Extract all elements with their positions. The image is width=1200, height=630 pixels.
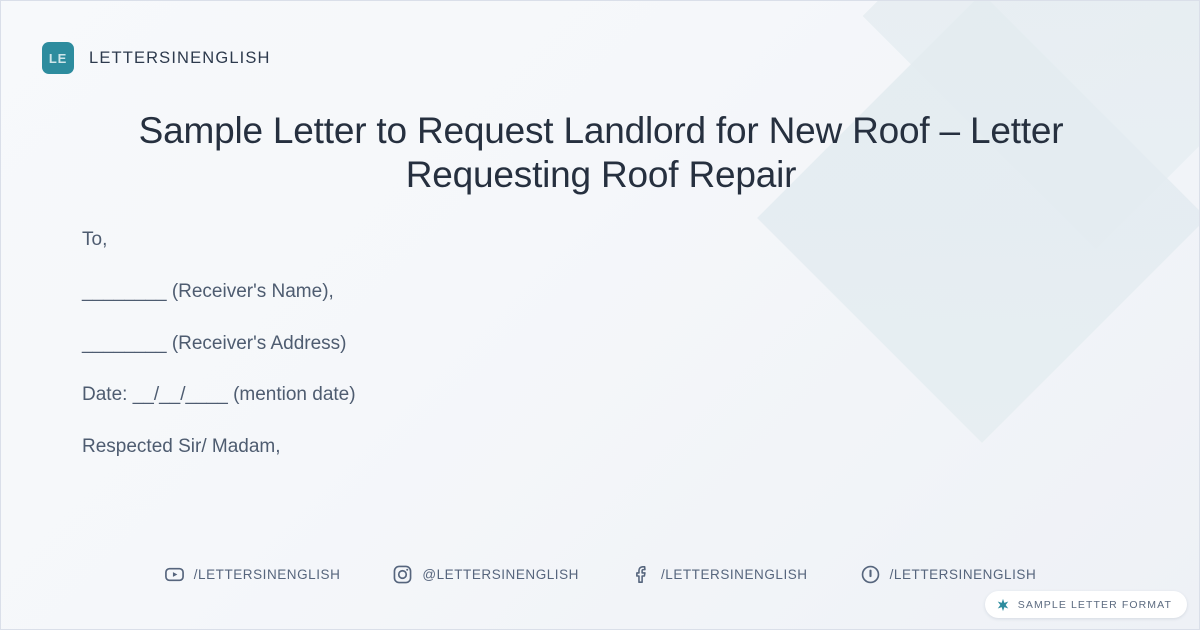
social-link-facebook[interactable]: /LETTERSINENGLISH [631,564,808,585]
brand-lockup[interactable]: LE LETTERSINENGLISH [42,42,271,74]
youtube-icon [164,564,185,585]
facebook-icon [631,564,652,585]
social-link-pinterest[interactable]: /LETTERSINENGLISH [860,564,1037,585]
letter-line-to: To, [82,229,842,252]
instagram-icon [392,564,413,585]
sample-letter-format-badge[interactable]: SAMPLE LETTER FORMAT [985,591,1187,618]
social-handle-pinterest: /LETTERSINENGLISH [890,567,1037,582]
letter-body: To, ________ (Receiver's Name), ________… [82,229,842,459]
lightning-bolt-icon [996,598,1010,612]
letter-line-date: Date: __/__/____ (mention date) [82,384,842,407]
letter-line-receiver-name: ________ (Receiver's Name), [82,281,842,304]
social-footer: /LETTERSINENGLISH @LETTERSINENGLISH /LET… [1,564,1199,585]
social-link-instagram[interactable]: @LETTERSINENGLISH [392,564,579,585]
social-handle-instagram: @LETTERSINENGLISH [422,567,579,582]
badge-label: SAMPLE LETTER FORMAT [1018,599,1172,611]
brand-name: LETTERSINENGLISH [89,49,271,68]
social-share-card: LE LETTERSINENGLISH Sample Letter to Req… [0,0,1200,630]
page-title: Sample Letter to Request Landlord for Ne… [81,109,1121,198]
social-handle-facebook: /LETTERSINENGLISH [661,567,808,582]
letter-line-receiver-address: ________ (Receiver's Address) [82,333,842,356]
brand-monogram: LE [42,42,74,74]
letter-line-salutation: Respected Sir/ Madam, [82,436,842,459]
social-handle-youtube: /LETTERSINENGLISH [194,567,341,582]
social-link-youtube[interactable]: /LETTERSINENGLISH [164,564,341,585]
pinterest-icon [860,564,881,585]
